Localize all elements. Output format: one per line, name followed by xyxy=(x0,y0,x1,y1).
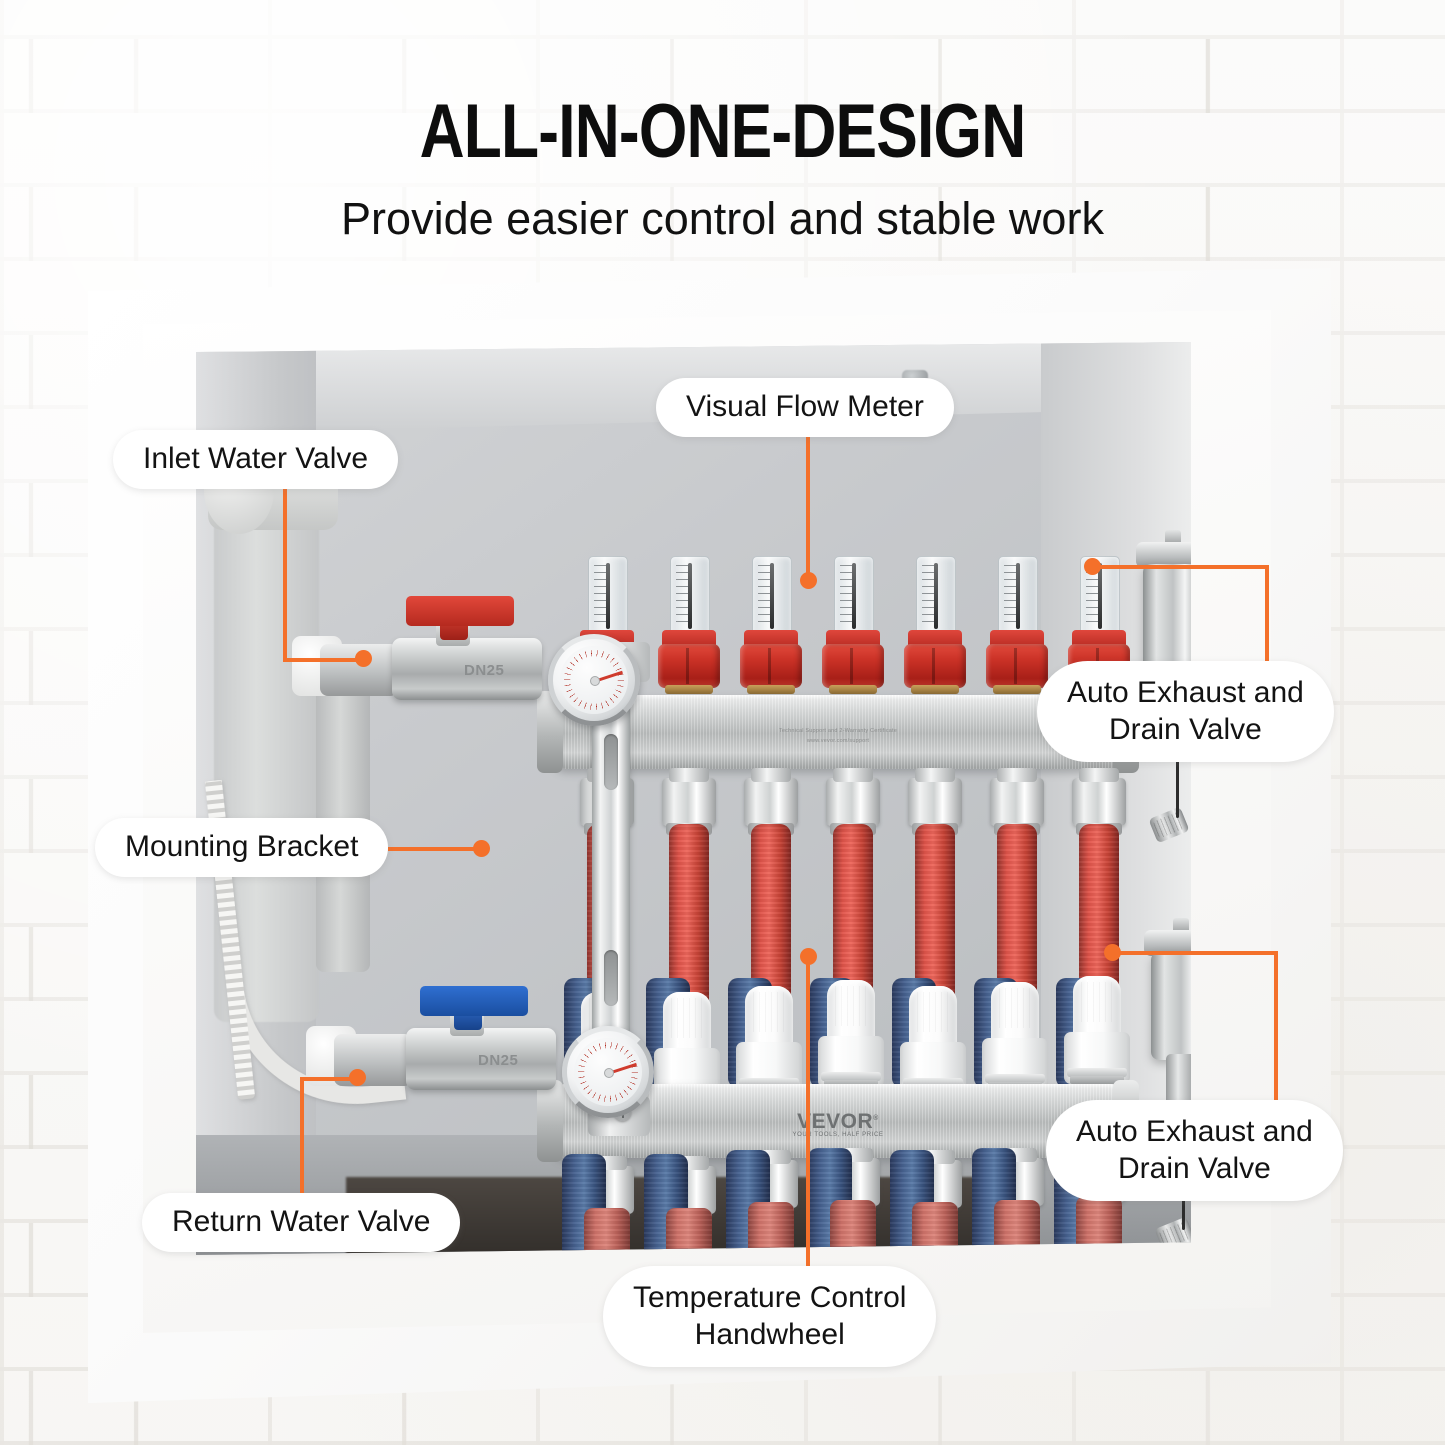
callout-label-line-2: Handwheel xyxy=(695,1317,845,1354)
bracket-slot xyxy=(604,734,618,790)
callout-inlet-water-valve[interactable]: Inlet Water Valve xyxy=(113,430,398,489)
callout-label-line-1: Auto Exhaust and xyxy=(1076,1114,1313,1151)
manifold-end-cap xyxy=(537,1080,563,1162)
flow-meter-body xyxy=(986,644,1048,688)
gauge-face xyxy=(574,1038,642,1106)
callout-temperature-control-handwheel[interactable]: Temperature Control Handwheel xyxy=(603,1266,936,1367)
handwheel-dome xyxy=(745,986,793,1048)
callout-label-line-2: Drain Valve xyxy=(1118,1151,1271,1188)
inlet-valve-body: DN25 xyxy=(392,638,542,700)
flow-meter-scale xyxy=(676,565,688,627)
handwheel-dome xyxy=(827,980,875,1042)
leader-dot-visual-flow-meter xyxy=(800,572,817,589)
flow-meter-base xyxy=(911,685,959,694)
flow-meter-tube xyxy=(670,556,710,636)
leader-dot-temperature-handwheel xyxy=(800,948,817,965)
gauge-face xyxy=(560,646,628,714)
handwheel-dome xyxy=(909,986,957,1048)
flow-meter-body xyxy=(658,644,720,688)
flow-meter-scale xyxy=(594,565,606,627)
outgoing-pipe-red xyxy=(748,1202,794,1255)
compression-nut xyxy=(744,778,798,826)
flow-meter-tube xyxy=(916,556,956,636)
callout-auto-exhaust-drain-valve-top[interactable]: Auto Exhaust and Drain Valve xyxy=(1037,661,1334,762)
leader-line-auto-exhaust-top xyxy=(1092,565,1269,569)
infographic-canvas: ALL-IN-ONE-DESIGN Provide easier control… xyxy=(0,0,1445,1445)
leader-line-auto-exhaust-bottom xyxy=(1274,951,1278,1101)
handwheel-dome xyxy=(663,992,711,1054)
callout-return-water-valve[interactable]: Return Water Valve xyxy=(142,1193,460,1252)
brand-registered-mark: ® xyxy=(873,1115,879,1122)
compression-nut xyxy=(662,778,716,826)
handwheel-dome xyxy=(1073,976,1121,1038)
callout-mounting-bracket[interactable]: Mounting Bracket xyxy=(95,818,388,877)
leader-line-mounting-bracket xyxy=(388,847,481,851)
page-title: ALL-IN-ONE-DESIGN xyxy=(130,88,1315,175)
pipe-texture xyxy=(584,1208,630,1255)
flow-meter-body xyxy=(740,644,802,688)
callout-label: Visual Flow Meter xyxy=(686,389,924,426)
leader-dot-auto-exhaust-top xyxy=(1084,558,1101,575)
bracket-slot xyxy=(604,950,618,1006)
return-valve-size-marking: DN25 xyxy=(478,1052,518,1069)
exhaust-valve-body xyxy=(1151,952,1191,1060)
outgoing-pipe-red xyxy=(584,1208,630,1255)
leader-dot-return-water-valve xyxy=(349,1069,366,1086)
manifold-note-line-2: www.vevor.com/support xyxy=(807,737,869,745)
inlet-valve-handle[interactable] xyxy=(406,596,514,626)
flow-meter-tube xyxy=(588,556,628,636)
leader-dot-auto-exhaust-bottom xyxy=(1104,944,1121,961)
flow-meter-scale xyxy=(1004,565,1016,627)
callout-label: Mounting Bracket xyxy=(125,829,358,866)
flow-meter-scale xyxy=(758,565,770,627)
compression-nut xyxy=(826,778,880,826)
leader-line-return-water-valve xyxy=(300,1077,304,1201)
leader-line-inlet-water-valve xyxy=(283,487,287,660)
flow-meter-base xyxy=(829,685,877,694)
leader-dot-inlet-water-valve xyxy=(355,650,372,667)
callout-auto-exhaust-drain-valve-bottom[interactable]: Auto Exhaust and Drain Valve xyxy=(1046,1100,1343,1201)
callout-label: Inlet Water Valve xyxy=(143,441,368,478)
outgoing-pipe-red xyxy=(666,1208,712,1255)
flow-meter-base xyxy=(993,685,1041,694)
handwheel-dome xyxy=(991,982,1039,1044)
leader-line-auto-exhaust-top xyxy=(1265,565,1269,662)
flow-meter-body xyxy=(904,644,966,688)
page-subtitle: Provide easier control and stable work xyxy=(0,193,1445,245)
inlet-valve-size-marking: DN25 xyxy=(464,662,504,679)
callout-label: Return Water Valve xyxy=(172,1204,430,1241)
flow-meter-body xyxy=(822,644,884,688)
gauge-center-pin xyxy=(590,676,600,686)
leader-line-inlet-water-valve xyxy=(283,658,363,662)
flow-meter-scale xyxy=(922,565,934,627)
leader-line-visual-flow-meter xyxy=(806,432,810,580)
manifold-note-line-1: Technical Support and 2-Warranty Certifi… xyxy=(779,727,897,735)
leader-line-temperature-handwheel xyxy=(806,955,810,1275)
leader-dot-mounting-bracket xyxy=(473,840,490,857)
callout-label-line-1: Auto Exhaust and xyxy=(1067,675,1304,712)
flow-meter-base xyxy=(747,685,795,694)
compression-nut xyxy=(1072,778,1126,826)
return-temperature-gauge xyxy=(562,1026,654,1118)
supply-temperature-gauge xyxy=(548,634,640,726)
gauge-center-pin xyxy=(604,1068,614,1078)
compression-nut xyxy=(908,778,962,826)
callout-visual-flow-meter[interactable]: Visual Flow Meter xyxy=(656,378,954,437)
exhaust-valve-body xyxy=(1143,564,1191,672)
flow-meter-base xyxy=(665,685,713,694)
return-valve-body: DN25 xyxy=(406,1028,556,1090)
flow-meter-tube xyxy=(752,556,792,636)
pipe-texture xyxy=(748,1202,794,1255)
callout-label-line-1: Temperature Control xyxy=(633,1280,906,1317)
flow-meter-scale xyxy=(840,565,852,627)
compression-nut xyxy=(990,778,1044,826)
return-valve-handle[interactable] xyxy=(420,986,528,1016)
callout-label-line-2: Drain Valve xyxy=(1109,712,1262,749)
leader-line-auto-exhaust-bottom xyxy=(1112,951,1278,955)
flow-meter-tube xyxy=(998,556,1038,636)
pipe-texture xyxy=(666,1208,712,1255)
flow-meter-tube xyxy=(834,556,874,636)
